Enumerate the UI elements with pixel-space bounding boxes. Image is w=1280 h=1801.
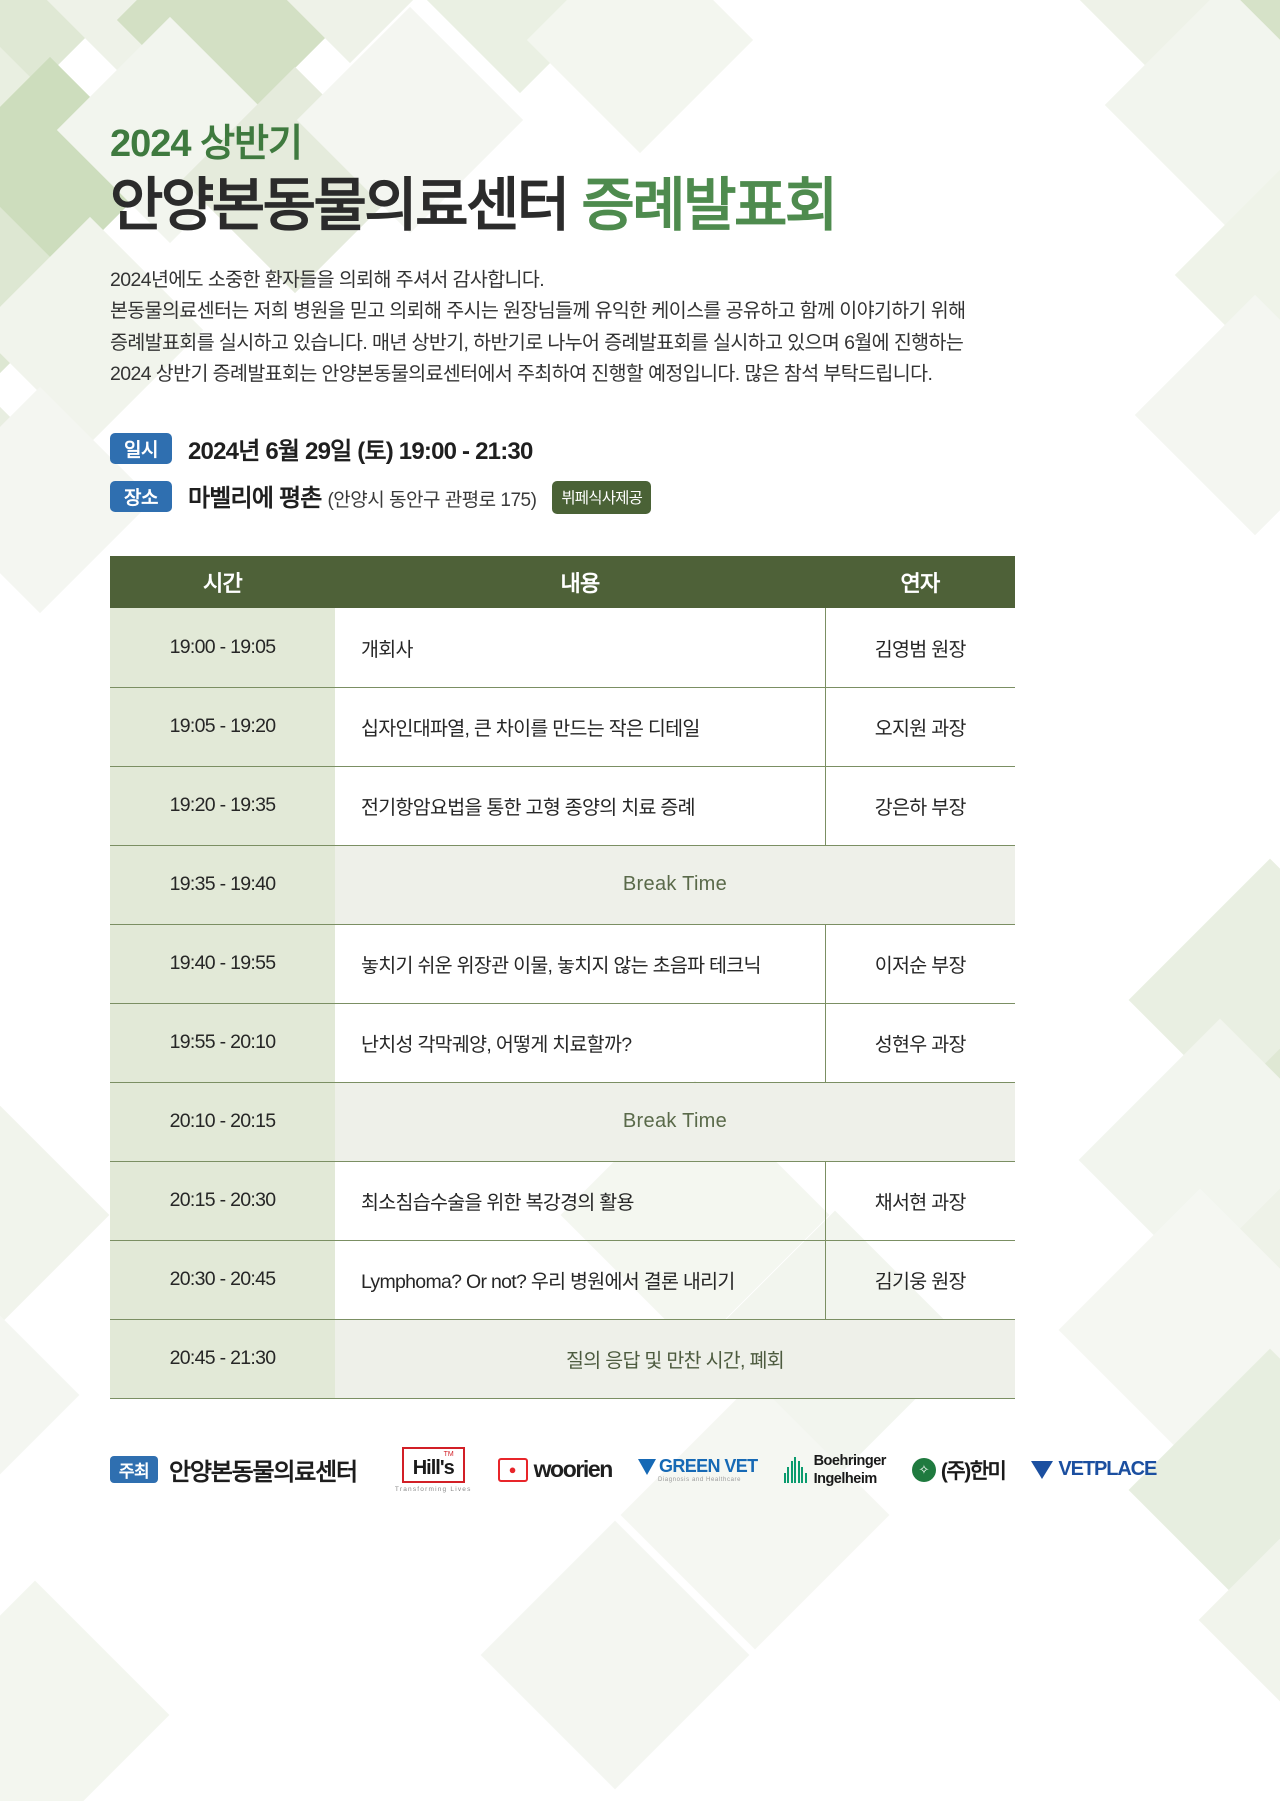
intro-line-4: 2024 상반기 증례발표회는 안양본동물의료센터에서 주최하여 진행할 예정입…: [110, 359, 1020, 391]
greenvet-tagline: Diagnosis and Healthcare: [658, 1477, 741, 1483]
info-row-date: 일시 2024년 6월 29일 (토) 19:00 - 21:30: [110, 431, 1170, 466]
row-topic: 십자인대파열, 큰 차이를 만드는 작은 디테일: [335, 687, 825, 766]
table-header-row: 시간 내용 연자: [110, 556, 1015, 608]
row-topic: 전기항암요법을 통한 고형 종양의 치료 증례: [335, 766, 825, 845]
intro-line-1: 2024년에도 소중한 환자들을 의뢰해 주셔서 감사합니다.: [110, 265, 1020, 297]
intro-paragraph: 2024년에도 소중한 환자들을 의뢰해 주셔서 감사합니다. 본동물의료센터는…: [110, 265, 1020, 391]
row-topic: 최소침습수술을 위한 복강경의 활용: [335, 1161, 825, 1240]
row-break-label: 질의 응답 및 만찬 시간, 폐회: [335, 1319, 1015, 1398]
table-row: 19:40 - 19:55놓치기 쉬운 위장관 이물, 놓치지 않는 초음파 테…: [110, 924, 1015, 1003]
place-name: 마벨리에 평촌: [188, 485, 322, 512]
table-row: 19:55 - 20:10난치성 각막궤양, 어떻게 치료할까?성현우 과장: [110, 1003, 1015, 1082]
row-topic: 개회사: [335, 608, 825, 687]
greenvet-triangle-icon: [638, 1459, 656, 1475]
row-speaker: 김영범 원장: [825, 608, 1015, 687]
row-topic: 난치성 각막궤양, 어떻게 치료할까?: [335, 1003, 825, 1082]
row-time: 20:30 - 20:45: [110, 1240, 335, 1319]
sponsor-logo-boehringer: Boehringer Ingelheim: [784, 1442, 886, 1498]
table-row: 19:00 - 19:05개회사김영범 원장: [110, 608, 1015, 687]
host-label-chip: 주최: [110, 1456, 158, 1483]
row-topic: Lymphoma? Or not? 우리 병원에서 결론 내리기: [335, 1240, 825, 1319]
table-row: 19:20 - 19:35전기항암요법을 통한 고형 종양의 치료 증례강은하 …: [110, 766, 1015, 845]
hanmi-leaf-icon: ✧: [912, 1458, 936, 1482]
sponsor-logo-hanmi: ✧ (주)한미: [912, 1442, 1005, 1498]
date-label-chip: 일시: [110, 433, 172, 464]
woorien-mark-icon: ●: [498, 1458, 528, 1482]
row-break-label: Break Time: [335, 1082, 1015, 1161]
greenvet-wordmark: GREEN VET: [659, 1456, 758, 1477]
intro-line-2: 본동물의료센터는 저희 병원을 믿고 의뢰해 주시는 원장님들께 유익한 케이스…: [110, 296, 1020, 328]
title-main: 안양본동물의료센터: [110, 173, 568, 238]
row-time: 19:05 - 19:20: [110, 687, 335, 766]
boehringer-mark-icon: [784, 1457, 807, 1483]
table-row: 20:45 - 21:30질의 응답 및 만찬 시간, 폐회: [110, 1319, 1015, 1398]
schedule-table: 시간 내용 연자 19:00 - 19:05개회사김영범 원장19:05 - 1…: [110, 556, 1015, 1399]
hills-tagline: Transforming Lives: [395, 1486, 472, 1493]
vetplace-triangle-icon: [1031, 1461, 1053, 1479]
row-time: 20:15 - 20:30: [110, 1161, 335, 1240]
row-speaker: 성현우 과장: [825, 1003, 1015, 1082]
page-header: 2024 상반기 안양본동물의료센터 증례발표회: [110, 124, 1170, 239]
row-speaker: 채서현 과장: [825, 1161, 1015, 1240]
table-row: 19:35 - 19:40Break Time: [110, 845, 1015, 924]
kicker-text: 2024 상반기: [110, 124, 1170, 166]
row-time: 19:55 - 20:10: [110, 1003, 335, 1082]
table-row: 20:10 - 20:15Break Time: [110, 1082, 1015, 1161]
page-title: 안양본동물의료센터 증례발표회: [110, 174, 1170, 239]
row-speaker: 강은하 부장: [825, 766, 1015, 845]
sponsor-logo-hills: TM Hill's Transforming Lives: [395, 1442, 472, 1498]
host-name: 안양본동물의료센터: [169, 1452, 357, 1487]
title-accent: 증례발표회: [581, 173, 835, 238]
place-label-chip: 장소: [110, 481, 172, 512]
row-speaker: 이저순 부장: [825, 924, 1015, 1003]
table-row: 20:30 - 20:45Lymphoma? Or not? 우리 병원에서 결…: [110, 1240, 1015, 1319]
place-address: (안양시 동안구 관평로 175): [327, 490, 536, 511]
hills-wordmark: Hill's: [413, 1458, 454, 1478]
woorien-wordmark: woorien: [534, 1456, 612, 1483]
footer-sponsors: 주최 안양본동물의료센터 TM Hill's Transforming Live…: [110, 1435, 1170, 1505]
row-speaker: 김기웅 원장: [825, 1240, 1015, 1319]
hanmi-wordmark: (주)한미: [941, 1455, 1005, 1485]
row-speaker: 오지원 과장: [825, 687, 1015, 766]
boehringer-wordmark-line2: Ingelheim: [814, 1471, 877, 1487]
row-time: 19:40 - 19:55: [110, 924, 335, 1003]
poster-root: 2024 상반기 안양본동물의료센터 증례발표회 2024년에도 소중한 환자들…: [0, 0, 1280, 1801]
column-header-time: 시간: [110, 556, 335, 608]
row-time: 19:35 - 19:40: [110, 845, 335, 924]
sponsor-logo-woorien: ● woorien: [498, 1442, 612, 1498]
row-time: 20:45 - 21:30: [110, 1319, 335, 1398]
boehringer-wordmark-line1: Boehringer: [814, 1453, 886, 1469]
row-time: 19:20 - 19:35: [110, 766, 335, 845]
intro-line-3: 증례발표회를 실시하고 있습니다. 매년 상반기, 하반기로 나누어 증례발표회…: [110, 328, 1020, 360]
schedule-table-wrapper: 시간 내용 연자 19:00 - 19:05개회사김영범 원장19:05 - 1…: [110, 556, 1170, 1399]
column-header-topic: 내용: [335, 556, 825, 608]
row-time: 19:00 - 19:05: [110, 608, 335, 687]
sponsor-logo-vetplace: VETPLACE: [1031, 1442, 1156, 1498]
buffet-tag: 뷔페식사제공: [552, 481, 651, 514]
sponsor-logo-greenvet: GREEN VET Diagnosis and Healthcare: [638, 1442, 758, 1498]
sponsor-logo-list: TM Hill's Transforming Lives ● woorien: [395, 1442, 1156, 1498]
place-value: 마벨리에 평촌 (안양시 동안구 관평로 175) 뷔페식사제공: [188, 478, 651, 514]
row-topic: 놓치기 쉬운 위장관 이물, 놓치지 않는 초음파 테크닉: [335, 924, 825, 1003]
table-row: 20:15 - 20:30최소침습수술을 위한 복강경의 활용채서현 과장: [110, 1161, 1015, 1240]
row-break-label: Break Time: [335, 845, 1015, 924]
table-row: 19:05 - 19:20십자인대파열, 큰 차이를 만드는 작은 디테일오지원…: [110, 687, 1015, 766]
date-value: 2024년 6월 29일 (토) 19:00 - 21:30: [188, 431, 533, 466]
row-time: 20:10 - 20:15: [110, 1082, 335, 1161]
info-row-place: 장소 마벨리에 평촌 (안양시 동안구 관평로 175) 뷔페식사제공: [110, 478, 1170, 514]
event-info: 일시 2024년 6월 29일 (토) 19:00 - 21:30 장소 마벨리…: [110, 431, 1170, 514]
schedule-table-body: 19:00 - 19:05개회사김영범 원장19:05 - 19:20십자인대파…: [110, 608, 1015, 1398]
vetplace-wordmark: VETPLACE: [1058, 1458, 1156, 1481]
column-header-speaker: 연자: [825, 556, 1015, 608]
